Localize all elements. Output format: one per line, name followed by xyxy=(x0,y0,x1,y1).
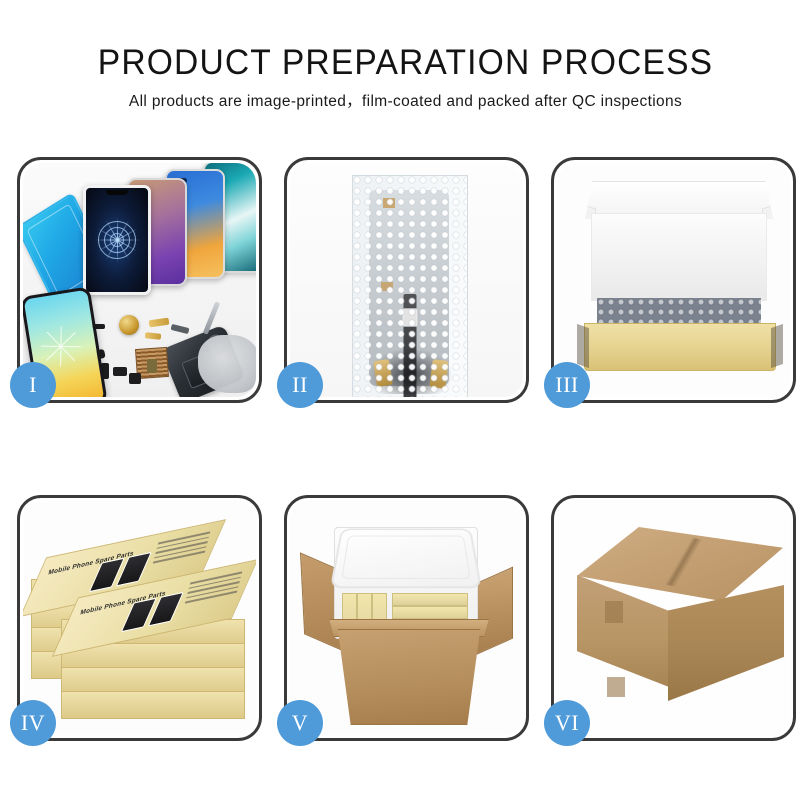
yellow-box-item xyxy=(392,606,468,619)
step-badge-6: VI xyxy=(544,700,590,746)
kraft-inner-box xyxy=(584,323,776,371)
part-small xyxy=(113,367,127,376)
copper-coil-part xyxy=(119,315,139,335)
foam-lid-open xyxy=(330,529,482,589)
part-battery-small xyxy=(147,359,157,373)
step-image-1 xyxy=(23,163,256,397)
step-panel-5: V xyxy=(284,495,529,741)
step-badge-1: I xyxy=(10,362,56,408)
step-badge-5: V xyxy=(277,700,323,746)
step-image-3 xyxy=(557,163,790,397)
page-subtitle: All products are image-printed，film-coat… xyxy=(0,88,811,116)
bubble-wrap-bag xyxy=(352,175,468,397)
stacked-box xyxy=(61,691,245,719)
screen-cracked-black xyxy=(83,185,151,295)
step-image-4: Mobile Phone Spare Parts Mobile Phone Sp… xyxy=(23,501,256,735)
step-panel-4: Mobile Phone Spare Parts Mobile Phone Sp… xyxy=(17,495,262,741)
yellow-box-item xyxy=(392,593,468,606)
step-image-6 xyxy=(557,501,790,735)
step-panel-3: III xyxy=(551,157,796,403)
foam-sheet xyxy=(591,213,767,301)
step-panel-1: I xyxy=(17,157,262,403)
part-speaker xyxy=(129,373,141,384)
bubble-texture xyxy=(353,176,467,397)
spec-lines xyxy=(152,531,210,566)
carton-front xyxy=(328,629,490,725)
page-title: PRODUCT PREPARATION PROCESS xyxy=(16,42,795,84)
spec-lines xyxy=(184,571,242,606)
step-image-5 xyxy=(290,501,523,735)
step-panel-6: VI xyxy=(551,495,796,741)
hand xyxy=(198,335,256,393)
header: PRODUCT PREPARATION PROCESS All products… xyxy=(0,0,811,116)
step-badge-4: IV xyxy=(10,700,56,746)
step-image-2 xyxy=(290,163,523,397)
step-badge-3: III xyxy=(544,362,590,408)
step-panel-2: II xyxy=(284,157,529,403)
step-badge-2: II xyxy=(277,362,323,408)
process-steps-grid: I II xyxy=(17,157,796,741)
tape-strip xyxy=(605,601,623,623)
box-stack: Mobile Phone Spare Parts Mobile Phone Sp… xyxy=(29,523,256,719)
crack-pattern-icon xyxy=(94,217,140,263)
tape-strip xyxy=(607,677,625,697)
product-preparation-infographic: PRODUCT PREPARATION PROCESS All products… xyxy=(0,0,811,811)
